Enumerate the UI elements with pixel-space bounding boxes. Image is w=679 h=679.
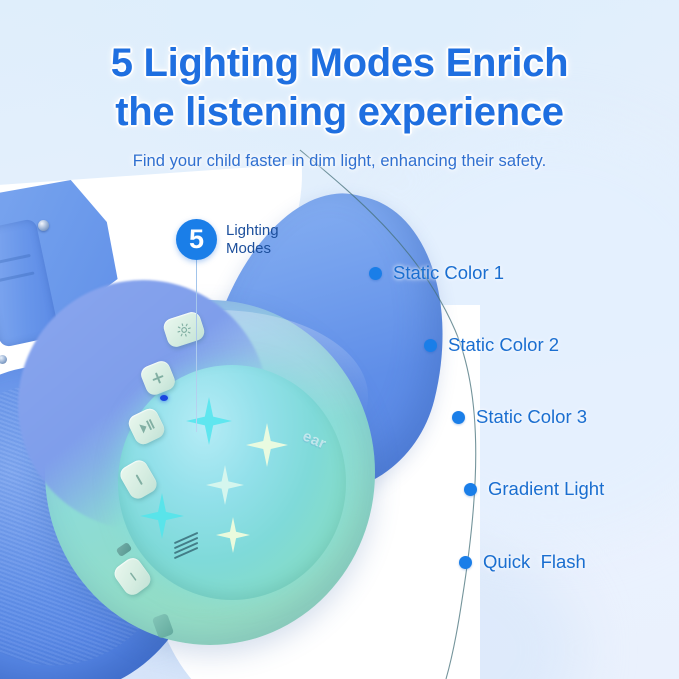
sparkle-icon	[216, 517, 250, 553]
minus-icon	[129, 470, 148, 489]
badge-label-line-2: Modes	[226, 240, 279, 258]
sun-icon	[175, 321, 193, 339]
list-item[interactable]: Static Color 1	[369, 262, 504, 284]
headband-screw-icon	[38, 220, 49, 231]
bullet-dot-icon	[452, 411, 465, 424]
bullet-dot-icon	[464, 483, 477, 496]
speed-lines-icon	[173, 537, 203, 553]
list-item-label: Static Color 1	[393, 262, 504, 284]
sparkle-icon	[206, 465, 244, 505]
list-item[interactable]: Static Color 3	[452, 406, 587, 428]
list-item[interactable]: Quick Flash	[459, 551, 586, 573]
badge-label-line-1: Lighting	[226, 222, 279, 240]
bar-icon	[124, 568, 141, 585]
list-item-label: Static Color 2	[448, 334, 559, 356]
callout-leader-line	[196, 258, 197, 432]
list-item-label: Gradient Light	[488, 478, 604, 500]
bullet-dot-icon	[369, 267, 382, 280]
header: 5 Lighting Modes Enrich the listening ex…	[0, 0, 679, 171]
headline-line-2: the listening experience	[0, 87, 679, 138]
promo-image-canvas: 5 Lighting Modes Enrich the listening ex…	[0, 0, 679, 679]
headline-line-1: 5 Lighting Modes Enrich	[0, 38, 679, 89]
play-pause-icon	[137, 417, 156, 435]
lighting-modes-callout: 5 Lighting Modes	[176, 219, 279, 260]
list-item-label: Quick Flash	[483, 551, 586, 573]
subtitle: Find your child faster in dim light, enh…	[0, 152, 679, 171]
sparkle-icon	[186, 397, 232, 445]
sparkle-icon	[246, 423, 288, 467]
badge-number: 5	[176, 219, 217, 260]
led-indicator-icon	[160, 395, 168, 401]
list-item[interactable]: Gradient Light	[464, 478, 604, 500]
badge-label: Lighting Modes	[226, 222, 279, 257]
list-item-label: Static Color 3	[476, 406, 587, 428]
plus-icon	[149, 369, 167, 387]
sparkle-icon	[140, 493, 184, 539]
bullet-dot-icon	[424, 339, 437, 352]
list-item[interactable]: Static Color 2	[424, 334, 559, 356]
bullet-dot-icon	[459, 556, 472, 569]
